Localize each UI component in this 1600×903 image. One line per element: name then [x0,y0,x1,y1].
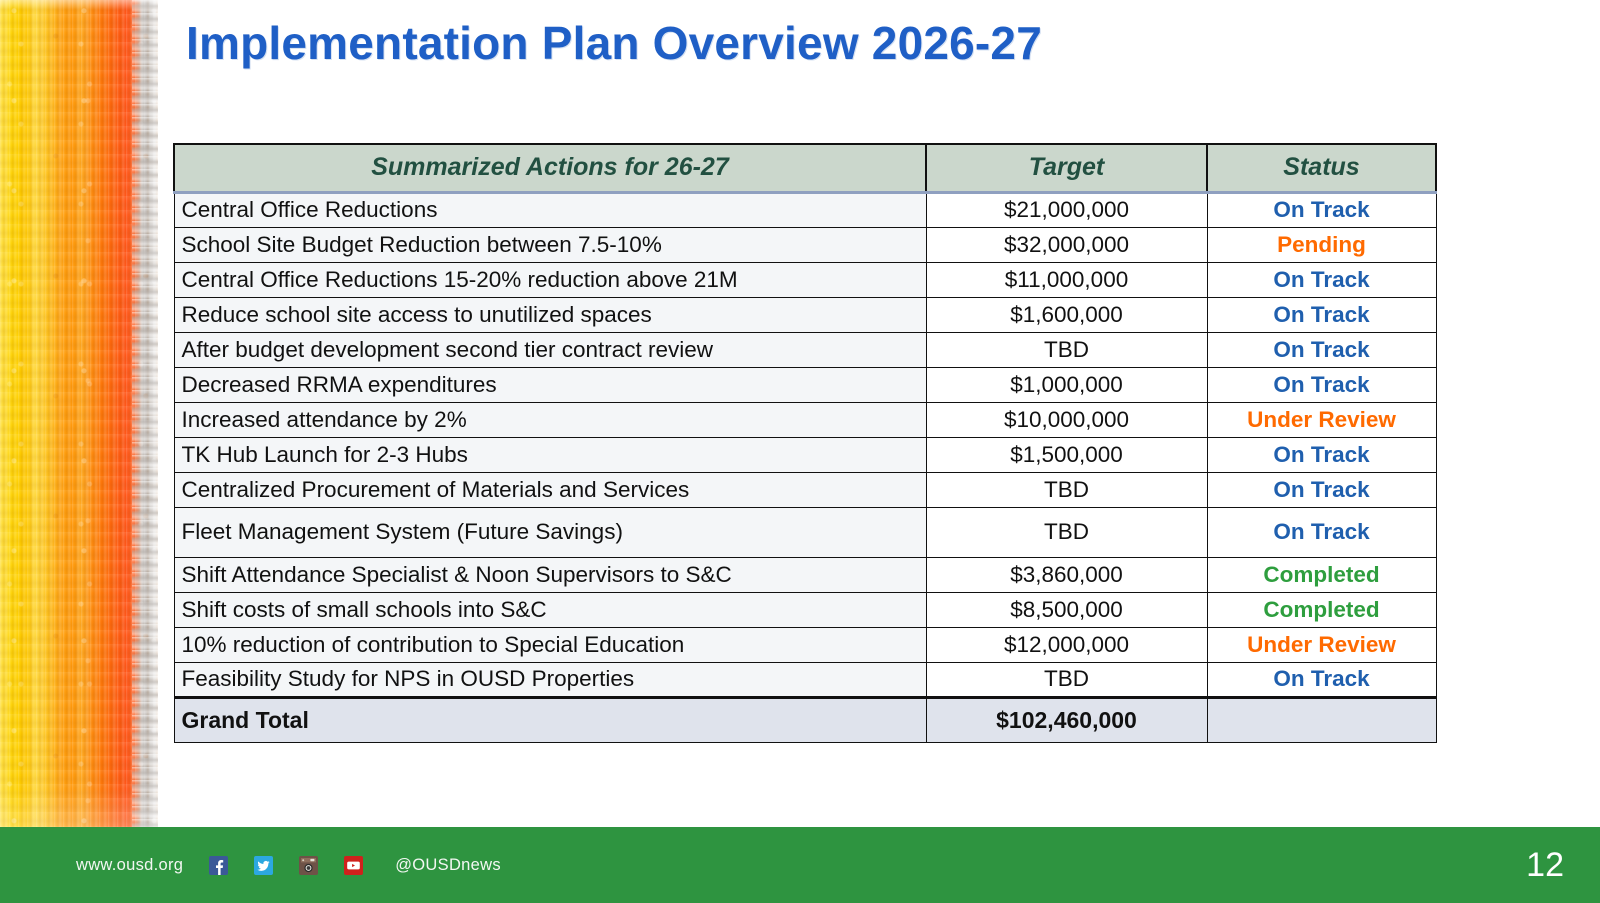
status-badge: Completed [1207,557,1436,592]
status-badge: Completed [1207,592,1436,627]
table-row: Shift Attendance Specialist & Noon Super… [174,557,1436,592]
cell-action: Shift costs of small schools into S&C [174,592,926,627]
cell-grand-total-value: $102,460,000 [926,697,1207,742]
page-number: 12 [1526,827,1564,903]
footer-bar: www.ousd.org [0,827,1600,903]
cell-action: Reduce school site access to unutilized … [174,297,926,332]
twitter-icon[interactable] [254,856,273,875]
cell-action: Decreased RRMA expenditures [174,367,926,402]
social-handle: @OUSDnews [395,856,501,875]
cell-action: Fleet Management System (Future Savings) [174,507,926,557]
table-row: TK Hub Launch for 2-3 Hubs$1,500,000On T… [174,437,1436,472]
status-badge: On Track [1207,472,1436,507]
decorative-brush-stroke [0,0,158,827]
table-row: School Site Budget Reduction between 7.5… [174,227,1436,262]
column-header-action: Summarized Actions for 26-27 [174,144,926,192]
table-row: Central Office Reductions$21,000,000On T… [174,192,1436,227]
cell-action: Centralized Procurement of Materials and… [174,472,926,507]
table-row: Shift costs of small schools into S&C$8,… [174,592,1436,627]
column-header-target: Target [926,144,1207,192]
cell-target: $10,000,000 [926,402,1207,437]
footer-content: www.ousd.org [76,827,501,903]
grand-total-row: Grand Total$102,460,000 [174,697,1436,742]
status-badge: Pending [1207,227,1436,262]
column-header-status: Status [1207,144,1436,192]
cell-action: Increased attendance by 2% [174,402,926,437]
cell-target: TBD [926,332,1207,367]
cell-action: After budget development second tier con… [174,332,926,367]
cell-action: TK Hub Launch for 2-3 Hubs [174,437,926,472]
cell-target: $12,000,000 [926,627,1207,662]
website-url[interactable]: www.ousd.org [76,856,183,875]
cell-grand-total-label: Grand Total [174,697,926,742]
table-row: 10% reduction of contribution to Special… [174,627,1436,662]
cell-target: $1,600,000 [926,297,1207,332]
facebook-icon[interactable] [209,856,228,875]
page-title: Implementation Plan Overview 2026-27 [186,16,1042,70]
cell-target: TBD [926,662,1207,697]
status-badge: On Track [1207,507,1436,557]
status-badge: On Track [1207,332,1436,367]
cell-target: $1,000,000 [926,367,1207,402]
cell-target: $11,000,000 [926,262,1207,297]
status-badge: On Track [1207,297,1436,332]
brush-top-fade [0,0,158,10]
status-badge: On Track [1207,367,1436,402]
table-row: Central Office Reductions 15-20% reducti… [174,262,1436,297]
cell-grand-total-status [1207,697,1436,742]
table-row: Increased attendance by 2%$10,000,000Und… [174,402,1436,437]
cell-action: Shift Attendance Specialist & Noon Super… [174,557,926,592]
status-badge: On Track [1207,262,1436,297]
status-badge: Under Review [1207,402,1436,437]
status-badge: On Track [1207,437,1436,472]
cell-target: $8,500,000 [926,592,1207,627]
status-badge: On Track [1207,192,1436,227]
table-header: Summarized Actions for 26-27 Target Stat… [174,144,1436,192]
cell-action: School Site Budget Reduction between 7.5… [174,227,926,262]
table-row: Feasibility Study for NPS in OUSD Proper… [174,662,1436,697]
table-header-row: Summarized Actions for 26-27 Target Stat… [174,144,1436,192]
cell-target: TBD [926,472,1207,507]
cell-action: Feasibility Study for NPS in OUSD Proper… [174,662,926,697]
instagram-icon[interactable] [299,856,318,875]
table-row: Decreased RRMA expenditures$1,000,000On … [174,367,1436,402]
brush-bottom-fade [0,787,158,827]
cell-action: 10% reduction of contribution to Special… [174,627,926,662]
table-row: Reduce school site access to unutilized … [174,297,1436,332]
brush-frayed-edge [132,0,158,827]
cell-target: TBD [926,507,1207,557]
table-body: Central Office Reductions$21,000,000On T… [174,192,1436,742]
cell-target: $1,500,000 [926,437,1207,472]
cell-action: Central Office Reductions [174,192,926,227]
cell-target: $21,000,000 [926,192,1207,227]
implementation-plan-table: Summarized Actions for 26-27 Target Stat… [173,143,1435,743]
cell-action: Central Office Reductions 15-20% reducti… [174,262,926,297]
cell-target: $3,860,000 [926,557,1207,592]
cell-target: $32,000,000 [926,227,1207,262]
status-badge: On Track [1207,662,1436,697]
status-badge: Under Review [1207,627,1436,662]
table-row: Centralized Procurement of Materials and… [174,472,1436,507]
table-row: Fleet Management System (Future Savings)… [174,507,1436,557]
actions-table: Summarized Actions for 26-27 Target Stat… [173,143,1437,743]
youtube-icon[interactable] [344,856,363,875]
table-row: After budget development second tier con… [174,332,1436,367]
